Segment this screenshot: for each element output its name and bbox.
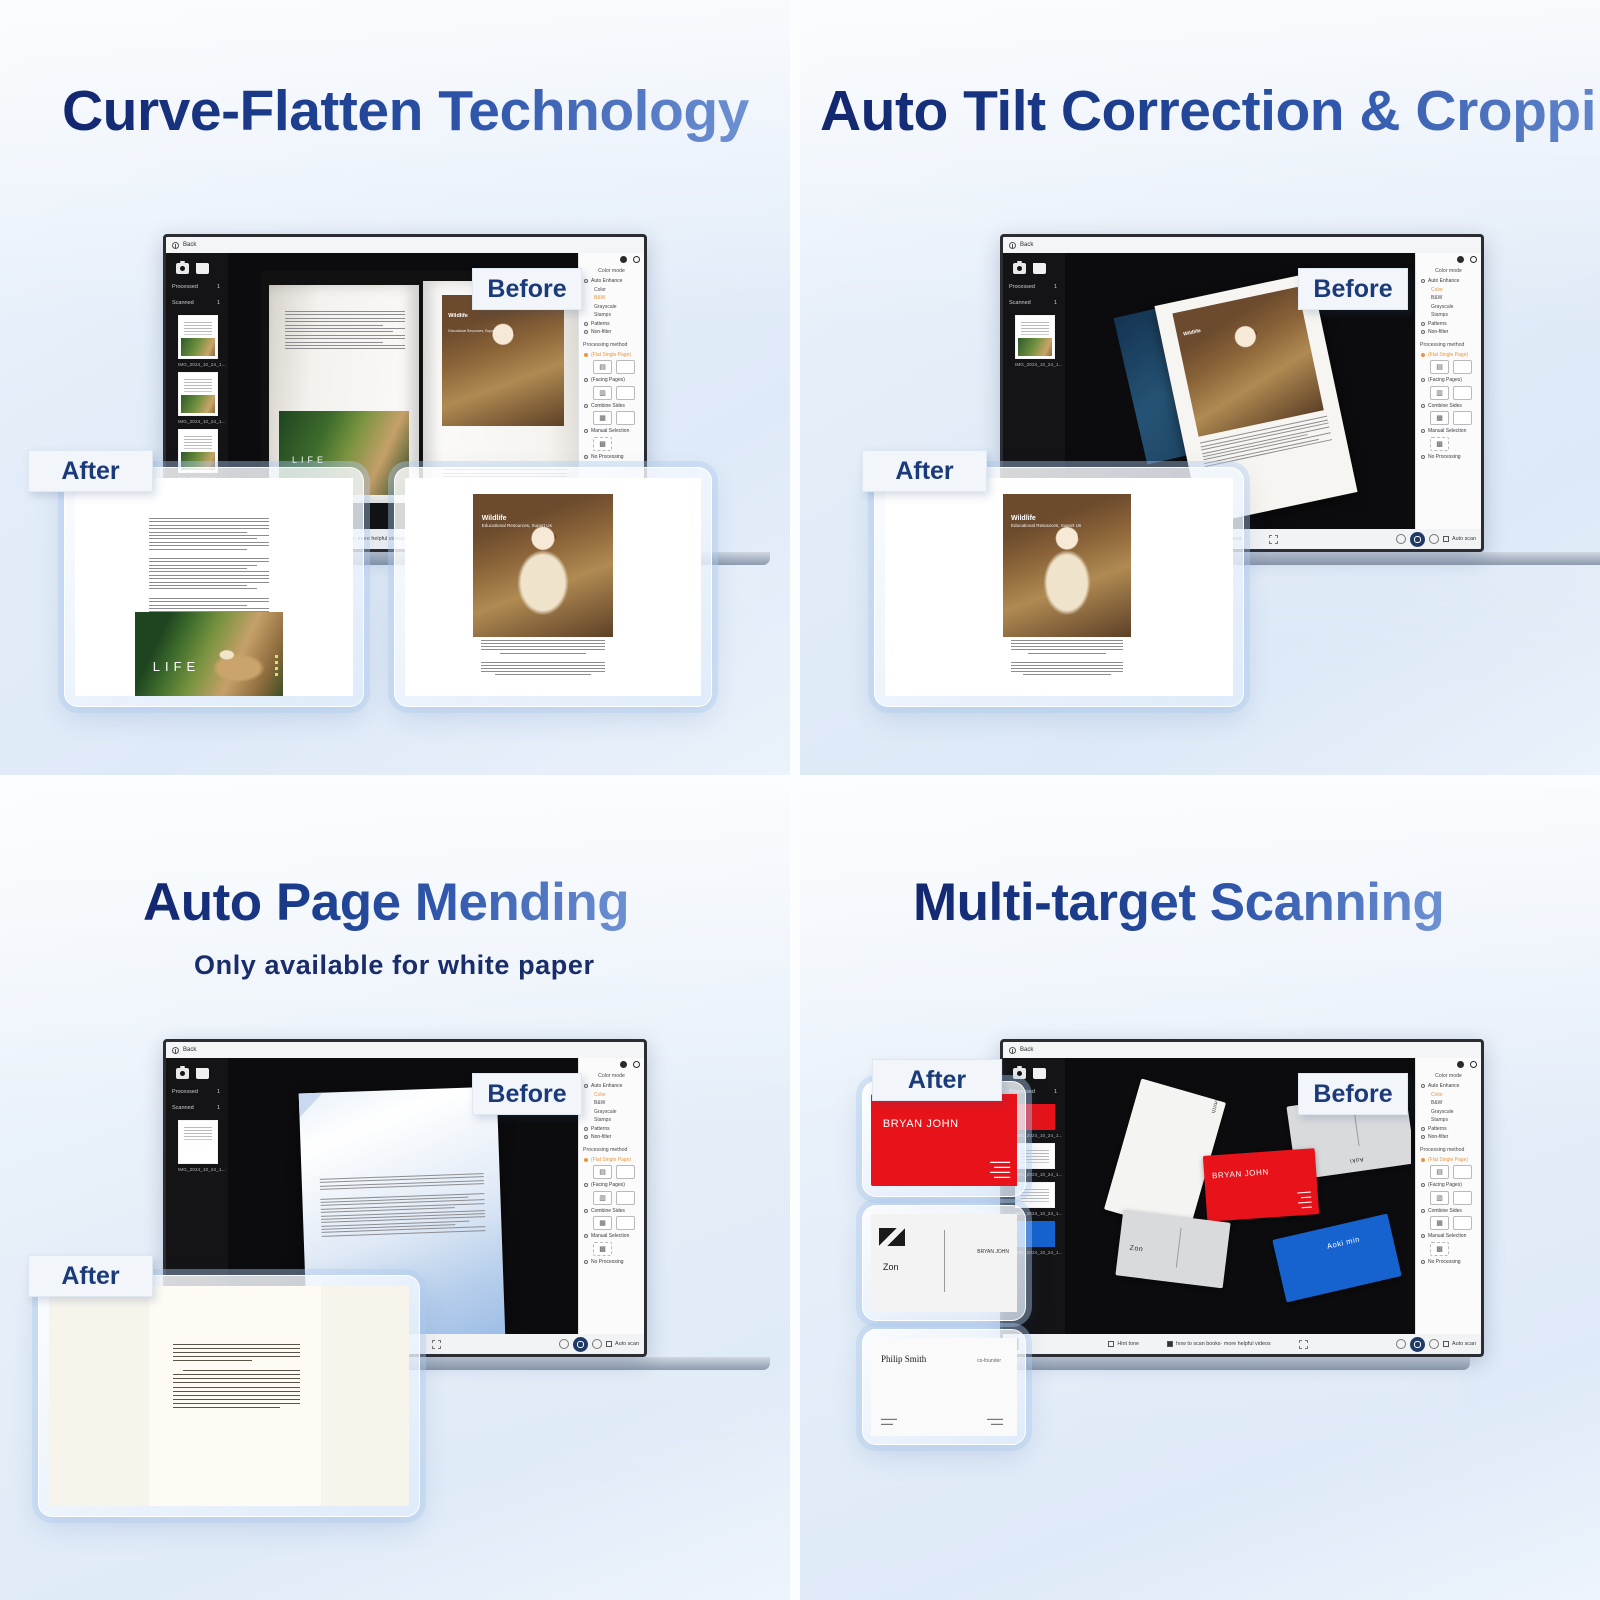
processing-combine-sides[interactable]: Combine Sides [1420, 402, 1477, 411]
thumbnail-label: IMG_2024_10_24_1... [1007, 361, 1061, 367]
color-mode-stamps[interactable]: Stamps [1420, 311, 1477, 320]
radio-icon[interactable] [1421, 1183, 1425, 1187]
gear-icon[interactable] [1457, 256, 1464, 263]
radio-icon[interactable] [584, 378, 588, 382]
panel-subtitle-page-mending: Only available for white paper [194, 950, 595, 981]
card-contact-lines: ▬▬▬▬▬▬▬▬▬▬▬▬▬▬ [1297, 1189, 1312, 1210]
after-tag-panel3: After [28, 1255, 153, 1297]
before-tag-panel1: Before [472, 268, 582, 310]
gear-icon[interactable] [620, 1061, 627, 1068]
scan-button[interactable] [573, 1337, 588, 1352]
method-thumb-blank[interactable] [1453, 360, 1472, 374]
radio-icon[interactable] [584, 279, 588, 283]
color-mode-patterns[interactable]: Patterns [583, 1125, 640, 1134]
magazine-title: LIFE [153, 659, 200, 674]
radio-icon[interactable] [584, 455, 588, 459]
color-mode-grayscale[interactable]: Grayscale [583, 1108, 640, 1117]
settings-icon[interactable] [1429, 534, 1439, 544]
radio-icon[interactable] [1421, 378, 1425, 382]
fullscreen-icon[interactable] [1269, 535, 1278, 544]
result-card-owl-page: WildlifeEducational Resources, Suport Us [394, 467, 712, 707]
back-label[interactable]: Back [1020, 1047, 1033, 1053]
radio-icon[interactable] [584, 1135, 588, 1139]
folder-icon[interactable] [1033, 1068, 1046, 1079]
panel-auto-tilt: Auto Tilt Correction & Cropping Back [800, 0, 1600, 775]
processing-facing-pages[interactable]: (Facing Pages) [1420, 1181, 1477, 1190]
radio-icon[interactable] [584, 1183, 588, 1187]
processing-no-processing[interactable]: No Processing [1420, 1258, 1477, 1267]
radio-icon[interactable] [1421, 1084, 1425, 1088]
laptop-reflection [1040, 1370, 1460, 1500]
card-contact-left: ▬▬▬▬▬▬▬ [881, 1416, 897, 1426]
owl-heading: Wildlife [1183, 328, 1202, 338]
method-thumb-blank[interactable] [616, 386, 635, 400]
method-thumb-combine[interactable]: ▦ [1430, 1216, 1449, 1230]
processing-flat-single-page[interactable]: (Flat Single Page) [583, 351, 640, 360]
help-icon[interactable] [633, 256, 640, 263]
method-thumb-blank[interactable] [1453, 386, 1472, 400]
feature-grid: Curve-Flatten Technology Back [0, 0, 1600, 1600]
radio-icon[interactable] [1421, 322, 1425, 326]
radio-icon[interactable] [584, 330, 588, 334]
color-mode-bw[interactable]: B&W [1420, 294, 1477, 303]
radio-icon[interactable] [1421, 1127, 1425, 1131]
card-contact-lines: ▬▬▬▬▬▬▬▬▬▬▬▬▬▬▬▬▬▬ [990, 1159, 1010, 1179]
radio-icon[interactable] [1421, 1234, 1425, 1238]
scanner-app-window: Back Processed1 IMG_2024_10_24_1... IMG_… [1000, 1039, 1484, 1357]
owl-body-text [481, 640, 604, 696]
method-thumb-facing[interactable]: ▥ [593, 1191, 612, 1205]
thumbnail-item[interactable] [178, 315, 218, 359]
color-mode-non-filter[interactable]: Non-filter [1420, 1133, 1477, 1142]
method-thumb-manual[interactable]: ▩ [1430, 437, 1449, 451]
color-mode-patterns[interactable]: Patterns [1420, 1125, 1477, 1134]
folder-icon[interactable] [196, 263, 209, 274]
radio-icon[interactable] [1421, 1135, 1425, 1139]
color-mode-color[interactable]: Color [583, 286, 640, 295]
color-mode-non-filter[interactable]: Non-filter [1420, 328, 1477, 337]
method-thumb-flat[interactable]: ▤ [593, 1165, 612, 1179]
thumbnail-item[interactable] [1015, 315, 1055, 359]
help-icon[interactable] [633, 1061, 640, 1068]
color-mode-grayscale[interactable]: Grayscale [583, 303, 640, 312]
method-thumb-blank[interactable] [1453, 1165, 1472, 1179]
scan-button[interactable] [1410, 532, 1425, 547]
processing-manual-selection[interactable]: Manual Selection [583, 1232, 640, 1241]
radio-icon[interactable] [584, 1234, 588, 1238]
processing-method-title: Processing method [583, 1147, 640, 1153]
result-card-mended-page [38, 1275, 420, 1517]
owl-body-text [1011, 640, 1124, 696]
thumbnail-label: IMG_2024_10_24_1... [170, 1166, 224, 1172]
magazine-cover-image: LIFE [135, 612, 283, 696]
method-thumb-blank[interactable] [616, 360, 635, 374]
magazine-title: LIFE [292, 455, 327, 465]
fullscreen-icon[interactable] [1299, 1340, 1308, 1349]
auto-scan-toggle[interactable]: Auto scan [1443, 536, 1476, 542]
stat-scanned: Scanned1 [170, 1099, 224, 1115]
color-mode-bw[interactable]: B&W [583, 294, 640, 303]
video-icon [1167, 1341, 1173, 1347]
color-mode-non-filter[interactable]: Non-filter [583, 328, 640, 337]
panel-curve-flatten: Curve-Flatten Technology Back [0, 0, 790, 775]
method-thumb-blank[interactable] [1453, 411, 1472, 425]
gear-icon[interactable] [1457, 1061, 1464, 1068]
processing-flat-single-page[interactable]: (Flat Single Page) [583, 1156, 640, 1165]
color-mode-bw[interactable]: B&W [583, 1099, 640, 1108]
stat-processed: Processed1 [1007, 278, 1061, 294]
color-mode-grayscale[interactable]: Grayscale [1420, 303, 1477, 312]
processing-combine-sides[interactable]: Combine Sides [1420, 1207, 1477, 1216]
laptop-base [970, 1357, 1470, 1370]
color-mode-non-filter[interactable]: Non-filter [583, 1133, 640, 1142]
radio-icon[interactable] [584, 322, 588, 326]
panel-title-auto-tilt: Auto Tilt Correction & Cropping [820, 78, 1600, 144]
stat-scanned: Scanned1 [1007, 294, 1061, 310]
settings-panel: Color mode Auto Enhance Color B&W Graysc… [1415, 1058, 1481, 1334]
processing-flat-single-page[interactable]: (Flat Single Page) [1420, 351, 1477, 360]
card-bryan-john: BRYAN JOHN ▬▬▬▬▬▬▬▬▬▬▬▬▬▬ [1203, 1148, 1319, 1222]
radio-icon[interactable] [584, 1209, 588, 1213]
processing-no-processing[interactable]: No Processing [583, 453, 640, 462]
folder-icon[interactable] [196, 1068, 209, 1079]
color-mode-title: Color mode [1420, 268, 1477, 274]
toggle-icon[interactable] [1108, 1341, 1114, 1347]
card-aoki-min: Aoki min [1272, 1214, 1401, 1303]
color-mode-auto-enhance[interactable]: Auto Enhance [583, 277, 640, 286]
settings-icon[interactable] [592, 1339, 602, 1349]
result-card-philip-smith: Philip Smith co-founder ▬▬▬▬▬▬▬ ▬▬▬▬▬▬▬ [862, 1329, 1026, 1445]
processing-facing-pages[interactable]: (Facing Pages) [583, 376, 640, 385]
method-thumb-blank[interactable] [616, 1191, 635, 1205]
mended-document [149, 1286, 321, 1506]
radio-icon[interactable] [1421, 1260, 1425, 1264]
radio-icon[interactable] [1421, 1158, 1425, 1162]
camera-icon[interactable] [176, 1068, 189, 1079]
thumbnail-label: IMG_2024_10_24_1... [170, 418, 224, 424]
checkbox-icon[interactable] [1443, 536, 1449, 542]
radio-icon[interactable] [1421, 279, 1425, 283]
radio-icon[interactable] [584, 1260, 588, 1264]
processing-manual-selection[interactable]: Manual Selection [1420, 1232, 1477, 1241]
owl-heading: Wildlife [448, 313, 468, 319]
processing-no-processing[interactable]: No Processing [1420, 453, 1477, 462]
radio-icon[interactable] [584, 353, 588, 357]
panel-title-page-mending: Auto Page Mending [143, 872, 629, 933]
back-icon[interactable] [172, 1047, 179, 1054]
checkbox-icon[interactable] [606, 1341, 612, 1347]
app-titlebar: Back [166, 237, 644, 253]
radio-icon[interactable] [584, 429, 588, 433]
thumbnail-item[interactable] [178, 1120, 218, 1164]
processing-combine-sides[interactable]: Combine Sides [583, 402, 640, 411]
method-thumb-manual[interactable]: ▩ [1430, 1242, 1449, 1256]
method-thumb-combine[interactable]: ▦ [1430, 411, 1449, 425]
method-thumb-facing[interactable]: ▥ [1430, 1191, 1449, 1205]
radio-icon[interactable] [1421, 404, 1425, 408]
color-mode-auto-enhance[interactable]: Auto Enhance [1420, 277, 1477, 286]
radio-icon[interactable] [584, 1084, 588, 1088]
radio-icon[interactable] [1421, 429, 1425, 433]
color-mode-patterns[interactable]: Patterns [583, 320, 640, 329]
radio-icon[interactable] [1421, 353, 1425, 357]
back-icon[interactable] [1009, 1047, 1016, 1054]
after-tag-panel1: After [28, 450, 153, 492]
processing-method-title: Processing method [583, 342, 640, 348]
radio-icon[interactable] [1421, 330, 1425, 334]
app-bottom-bar: Hint tone how to scan books· more helpfu… [1003, 1334, 1481, 1354]
processing-no-processing[interactable]: No Processing [583, 1258, 640, 1267]
method-thumb-manual[interactable]: ▩ [593, 437, 612, 451]
processing-flat-single-page[interactable]: (Flat Single Page) [1420, 1156, 1477, 1165]
laptop-reflection [1240, 565, 1600, 695]
result-card-tilt-corrected: WildlifeEducational Resources, Suport Us [874, 467, 1244, 707]
method-thumb-flat[interactable]: ▤ [1430, 360, 1449, 374]
app-titlebar: Back [1003, 237, 1481, 253]
processing-method-title: Processing method [1420, 342, 1477, 348]
before-tag-panel4: Before [1298, 1073, 1408, 1115]
color-mode-auto-enhance[interactable]: Auto Enhance [1420, 1082, 1477, 1091]
panel-auto-page-mending: Auto Page Mending Only available for whi… [0, 785, 790, 1600]
camera-icon[interactable] [1013, 263, 1026, 274]
method-thumb-flat[interactable]: ▤ [1430, 1165, 1449, 1179]
color-mode-title: Color mode [1420, 1073, 1477, 1079]
color-mode-bw[interactable]: B&W [1420, 1099, 1477, 1108]
after-card-bryan-john: BRYAN JOHN ▬▬▬▬▬▬▬▬▬▬▬▬▬▬▬▬▬▬ [871, 1094, 1017, 1186]
color-mode-stamps[interactable]: Stamps [1420, 1116, 1477, 1125]
processing-manual-selection[interactable]: Manual Selection [583, 427, 640, 436]
folder-icon[interactable] [1033, 263, 1046, 274]
after-tag-panel4: After [872, 1059, 1002, 1101]
owl-photo: WildlifeEducational Resources, Suport Us [1003, 494, 1130, 638]
rotate-icon[interactable] [1396, 1339, 1406, 1349]
method-thumb-facing[interactable]: ▥ [593, 386, 612, 400]
method-thumb-blank[interactable] [616, 411, 635, 425]
app-titlebar: Back [1003, 1042, 1481, 1058]
radio-icon[interactable] [1421, 455, 1425, 459]
processing-facing-pages[interactable]: (Facing Pages) [1420, 376, 1477, 385]
gear-icon[interactable] [620, 256, 627, 263]
method-thumb-blank[interactable] [1453, 1191, 1472, 1205]
method-thumb-blank[interactable] [1453, 1216, 1472, 1230]
back-label[interactable]: Back [183, 242, 196, 248]
thumbnail-label: IMG_2024_10_24_1... [170, 361, 224, 367]
result-card-zon: Zon BRYAN JOHN [862, 1205, 1026, 1321]
before-tag-panel2: Before [1298, 268, 1408, 310]
processing-facing-pages[interactable]: (Facing Pages) [583, 1181, 640, 1190]
panel-title-multi-target: Multi-target Scanning [913, 872, 1444, 933]
before-tag-panel3: Before [472, 1073, 582, 1115]
rotate-icon[interactable] [559, 1339, 569, 1349]
stat-scanned: Scanned1 [170, 294, 224, 310]
owl-heading: WildlifeEducational Resources, Suport Us [1011, 515, 1081, 528]
color-mode-grayscale[interactable]: Grayscale [1420, 1108, 1477, 1117]
after-card-philip-smith-name: Philip Smith [881, 1354, 926, 1364]
owl-photo: WildlifeEducational Resources, Suport Us [473, 494, 612, 638]
stat-processed: Processed1 [170, 278, 224, 294]
camera-icon[interactable] [176, 263, 189, 274]
method-thumb-combine[interactable]: ▦ [593, 1216, 612, 1230]
checkbox-icon[interactable] [1443, 1341, 1449, 1347]
hint-tone-toggle[interactable]: Hint tone [1108, 1341, 1139, 1347]
camera-icon[interactable] [1013, 1068, 1026, 1079]
method-thumb-manual[interactable]: ▩ [593, 1242, 612, 1256]
card-zon: Zon [1115, 1210, 1230, 1289]
fullscreen-icon[interactable] [432, 1340, 441, 1349]
videos-link[interactable]: how to scan books· more helpful videos [1167, 1341, 1271, 1347]
panel-multi-target: Multi-target Scanning Back Processed1 [800, 785, 1600, 1600]
color-mode-color[interactable]: Color [1420, 286, 1477, 295]
color-mode-stamps[interactable]: Stamps [583, 311, 640, 320]
zon-label: Zon [883, 1262, 899, 1272]
thumbnail-item[interactable] [178, 372, 218, 416]
method-thumb-blank[interactable] [616, 1165, 635, 1179]
back-label[interactable]: Back [183, 1047, 196, 1053]
settings-panel: Color mode Auto Enhance Color B&W Graysc… [1415, 253, 1481, 529]
color-mode-patterns[interactable]: Patterns [1420, 320, 1477, 329]
owl-subheading: Educational Resources, Suport Us [448, 329, 500, 333]
settings-panel: Color mode Auto Enhance Color B&W Graysc… [578, 1058, 644, 1334]
radio-icon[interactable] [584, 1127, 588, 1131]
panel-title-curve-flatten: Curve-Flatten Technology [62, 78, 749, 144]
auto-scan-toggle[interactable]: Auto scan [1443, 1341, 1476, 1347]
radio-icon[interactable] [1421, 1209, 1425, 1213]
rotate-icon[interactable] [1396, 534, 1406, 544]
back-icon[interactable] [1009, 242, 1016, 249]
laptop-base [1230, 552, 1600, 565]
app-titlebar: Back [166, 1042, 644, 1058]
scan-button[interactable] [1410, 1337, 1425, 1352]
processing-manual-selection[interactable]: Manual Selection [1420, 427, 1477, 436]
auto-scan-toggle[interactable]: Auto scan [606, 1341, 639, 1347]
color-mode-color[interactable]: Color [1420, 1091, 1477, 1100]
zon-logo-icon [879, 1228, 905, 1246]
help-icon[interactable] [1470, 1061, 1477, 1068]
back-icon[interactable] [172, 242, 179, 249]
radio-icon[interactable] [584, 404, 588, 408]
method-thumb-flat[interactable]: ▤ [593, 360, 612, 374]
after-tag-panel2: After [862, 450, 987, 492]
method-thumb-blank[interactable] [616, 1216, 635, 1230]
settings-icon[interactable] [1429, 1339, 1439, 1349]
color-mode-stamps[interactable]: Stamps [583, 1116, 640, 1125]
method-thumb-facing[interactable]: ▥ [1430, 386, 1449, 400]
help-icon[interactable] [1470, 256, 1477, 263]
owl-heading: WildlifeEducational Resources, Suport Us [482, 515, 552, 528]
stat-processed: Processed1 [170, 1083, 224, 1099]
color-mode-title: Color mode [583, 1073, 640, 1079]
after-card-bryan-john-name: BRYAN JOHN [977, 1249, 1009, 1255]
processing-combine-sides[interactable]: Combine Sides [583, 1207, 640, 1216]
result-card-left-page: LIFE [64, 467, 364, 707]
novel-text-block [173, 1344, 300, 1411]
color-mode-color[interactable]: Color [583, 1091, 640, 1100]
radio-icon[interactable] [584, 1158, 588, 1162]
method-thumb-combine[interactable]: ▦ [593, 411, 612, 425]
back-label[interactable]: Back [1020, 242, 1033, 248]
after-card-philip-smith-role: co-founder [977, 1358, 1001, 1364]
color-mode-auto-enhance[interactable]: Auto Enhance [583, 1082, 640, 1091]
processing-method-title: Processing method [1420, 1147, 1477, 1153]
color-mode-title: Color mode [583, 268, 640, 274]
card-contact-right: ▬▬▬▬▬▬▬ [987, 1416, 1003, 1426]
